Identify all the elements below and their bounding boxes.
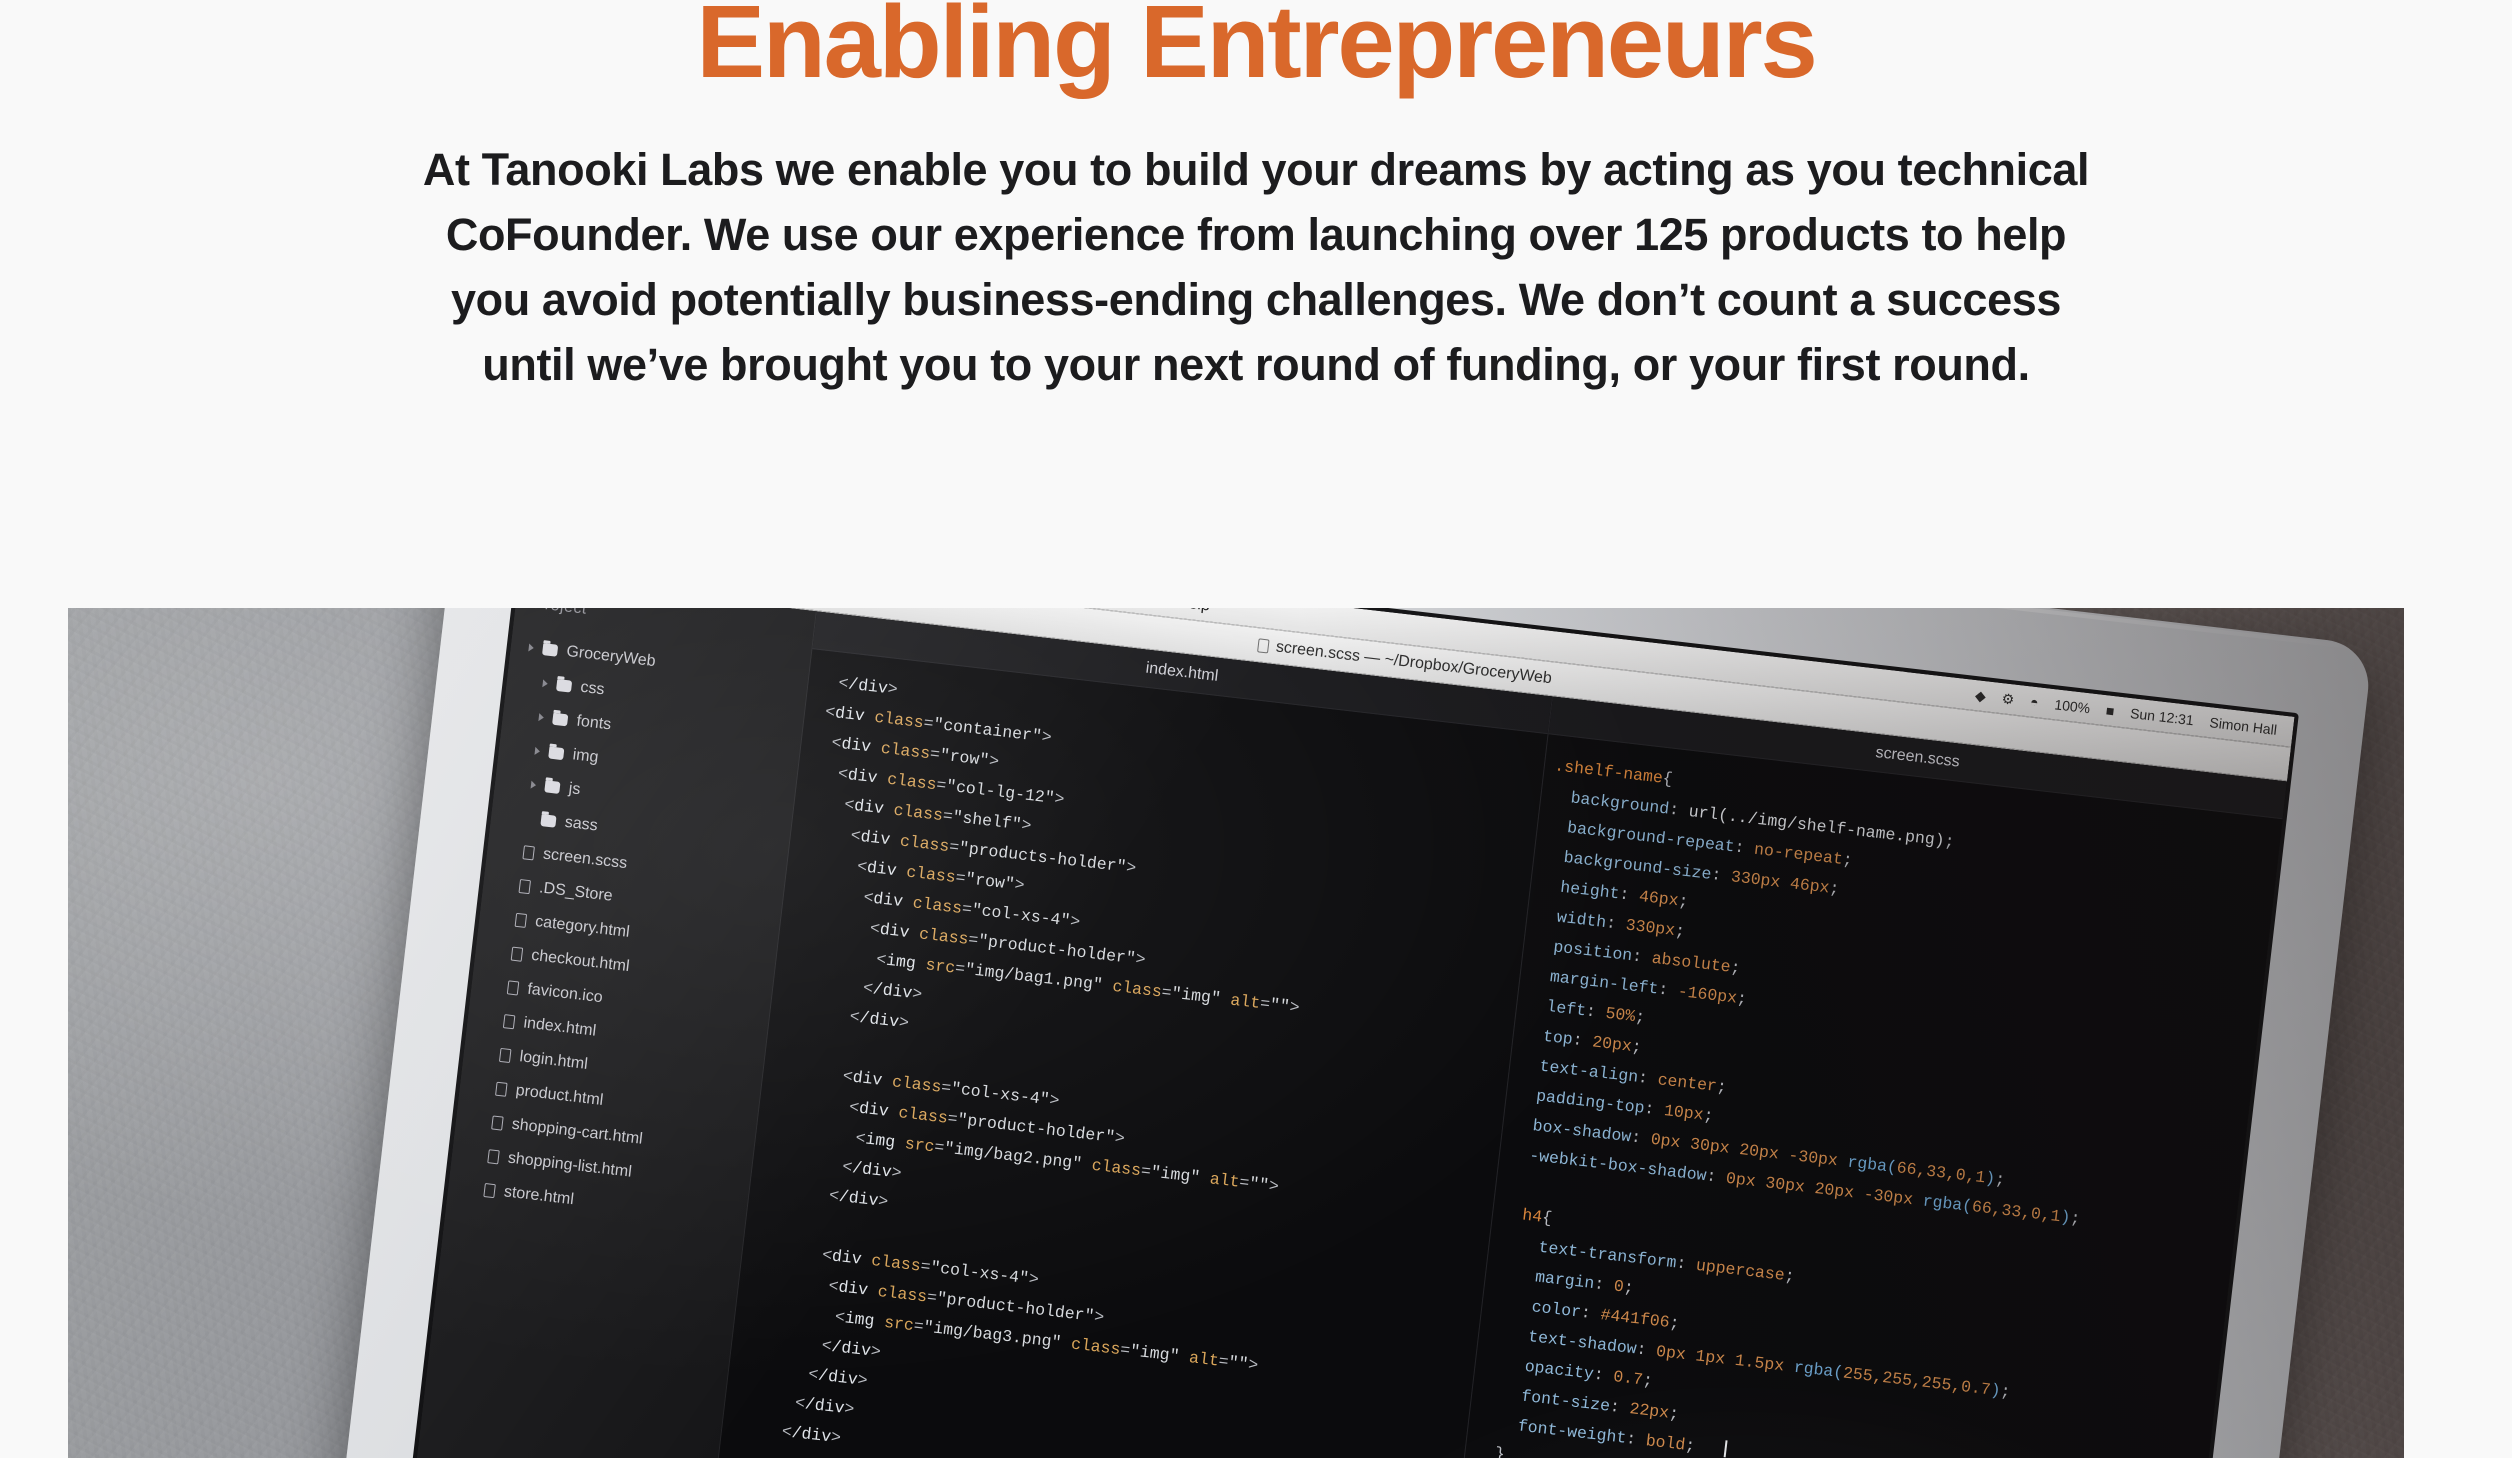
hero-description: At Tanooki Labs we enable you to build y… [406,137,2106,397]
screen-bezel:  Atom File Edit View Selection Find Pac… [401,608,2299,1458]
spacer-icon [470,1188,475,1189]
spacer-icon [490,1019,495,1020]
spacer-icon [501,918,506,919]
file-icon [499,1048,512,1063]
tree-item-label: fonts [575,705,613,743]
user-name[interactable]: Simon Hall [2209,714,2278,738]
spacer-icon [498,952,503,953]
tree-item-label: img [571,738,601,775]
tree-item-label: sass [563,806,600,844]
chevron-right-icon[interactable] [531,781,537,790]
file-icon [503,1014,516,1029]
page-root: Enabling Entrepreneurs At Tanooki Labs w… [0,0,2512,1458]
chevron-right-icon[interactable] [538,713,544,722]
menu-item-help[interactable]: Help [1176,608,1211,615]
folder-open-icon [540,814,556,828]
tree-item-label: js [567,772,582,807]
clock[interactable]: Sun 12:31 [2129,705,2194,728]
spacer-icon [494,986,499,987]
battery-percent: 100% [2054,696,2091,716]
page-title: Enabling Entrepreneurs [0,0,2512,95]
spacer-icon [474,1155,479,1156]
pane-html[interactable]: index.html </div> <div class="container"… [704,611,1552,1458]
chevron-down-icon[interactable] [527,818,532,819]
file-icon [483,1183,496,1198]
folder-icon [544,780,560,794]
code-html[interactable]: </div> <div class="container"> <div clas… [704,649,1547,1458]
wifi-icon[interactable]: ◓ [2029,693,2039,710]
folder-icon [556,679,572,693]
spacer-icon [478,1121,483,1122]
laptop:  Atom File Edit View Selection Find Pac… [333,608,2374,1458]
chevron-right-icon[interactable] [542,679,548,688]
laptop-screen:  Atom File Edit View Selection Find Pac… [406,608,2295,1458]
spacer-icon [505,884,510,885]
file-icon [511,947,524,962]
pane-scss[interactable]: screen.scss .shelf-name{ background: url… [1438,696,2287,1458]
folder-icon [552,713,568,727]
tree-item-label: store.html [502,1175,576,1217]
folder-icon [542,643,558,657]
file-icon [522,845,535,860]
code-scss[interactable]: .shelf-name{ background: url(../img/shel… [1443,734,2283,1458]
file-icon [515,913,528,928]
hero-section: Enabling Entrepreneurs At Tanooki Labs w… [0,0,2512,397]
folder-icon [548,747,564,761]
file-icon [507,980,520,995]
document-icon [1257,638,1270,653]
spacer-icon [486,1053,491,1054]
file-icon [518,879,531,894]
bluetooth-icon[interactable]: ⚙ [2001,690,2015,708]
tree-item-label: css [579,671,607,708]
dropbox-icon[interactable]: ◆ [1974,687,1987,705]
spacer-icon [509,851,514,852]
battery-icon[interactable]: ■ [2105,702,2115,719]
chevron-right-icon[interactable] [528,644,534,653]
file-icon [491,1115,504,1130]
file-icon [487,1149,500,1164]
chevron-right-icon[interactable] [534,747,540,756]
file-icon [495,1082,508,1097]
hero-photo:  Atom File Edit View Selection Find Pac… [68,608,2404,1458]
spacer-icon [482,1087,487,1088]
